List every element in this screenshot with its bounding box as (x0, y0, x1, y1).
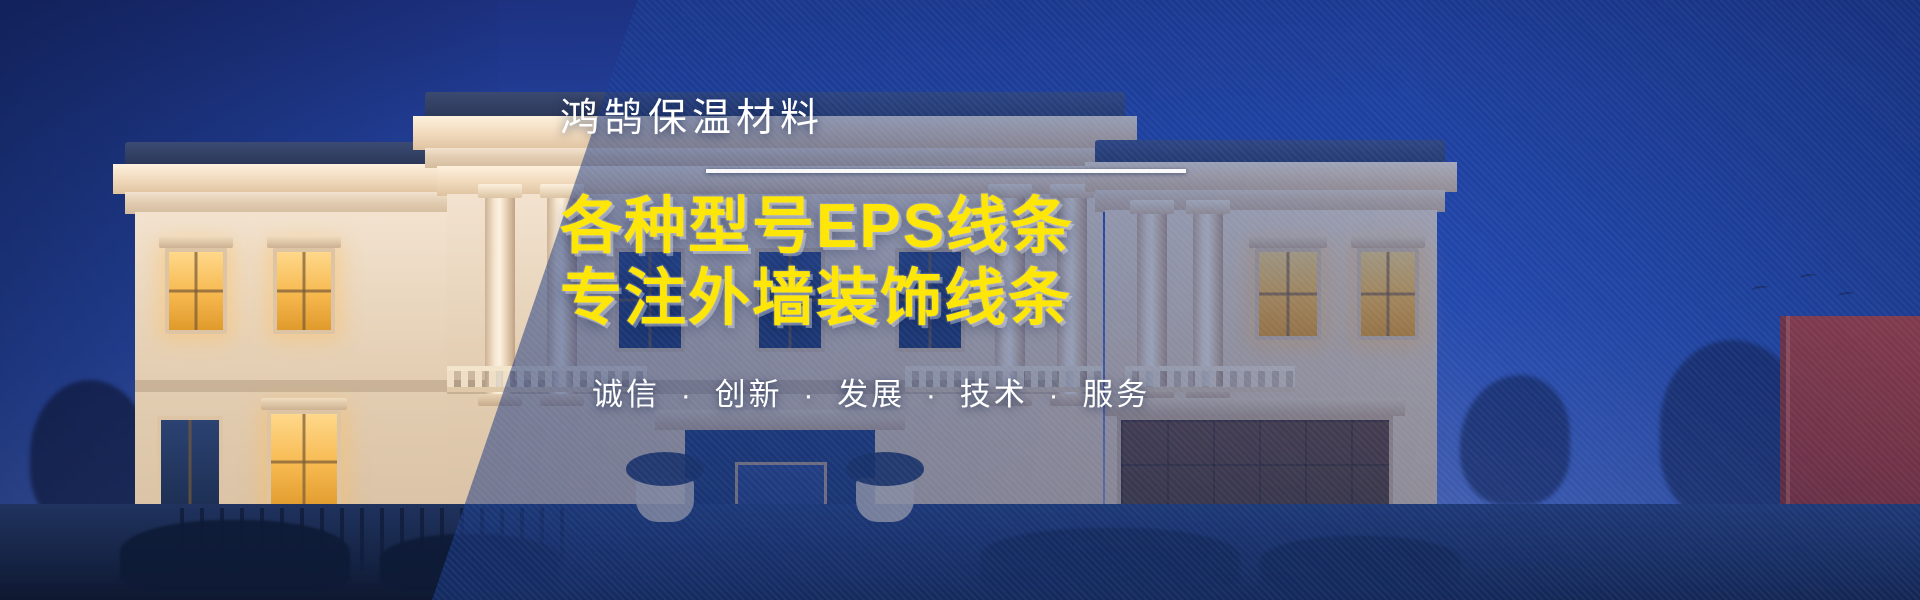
headline-line-2: 专注外墙装饰线条 (560, 263, 1260, 335)
window-pediment (261, 398, 347, 410)
window-mullion (189, 420, 192, 508)
window-transom (277, 290, 331, 293)
banner-copy-block: 鸿鹄保温材料 各种型号EPS线条 专注外墙装饰线条 诚信 · 创新 · 发展 ·… (560, 96, 1260, 414)
window-pediment (159, 236, 233, 248)
left-wing-roof (125, 142, 455, 166)
left-wing-cornice (113, 164, 467, 194)
headline-group: 各种型号EPS线条 专注外墙装饰线条 (560, 191, 1260, 335)
tagline-separator: · (926, 377, 939, 412)
window-transom (271, 461, 337, 464)
divider-rule (706, 169, 1186, 173)
tagline-item-1: 诚信 (592, 377, 660, 412)
tagline-item-3: 发展 (837, 377, 905, 412)
tagline-separator: · (1048, 377, 1061, 412)
left-wing-entablature (125, 192, 455, 214)
tagline-item-5: 服务 (1082, 377, 1150, 412)
tagline: 诚信 · 创新 · 发展 · 技术 · 服务 (592, 369, 1260, 414)
window-lit (165, 248, 227, 334)
tagline-separator: · (681, 377, 694, 412)
tagline-item-4: 技术 (960, 377, 1028, 412)
tagline-item-2: 创新 (715, 377, 783, 412)
window-pediment (267, 236, 341, 248)
window-lit (273, 248, 335, 334)
brand-name: 鸿鹄保温材料 (560, 96, 1260, 143)
window-transom (169, 290, 223, 293)
left-wing-string-course (135, 380, 447, 392)
headline-line-1: 各种型号EPS线条 (560, 191, 1260, 263)
banner-hero: 鸿鹄保温材料 各种型号EPS线条 专注外墙装饰线条 诚信 · 创新 · 发展 ·… (0, 0, 1920, 600)
column-capital (478, 184, 522, 198)
window-dark (157, 416, 223, 512)
tagline-separator: · (803, 377, 816, 412)
hedge (120, 520, 350, 590)
window-lit (267, 410, 341, 514)
